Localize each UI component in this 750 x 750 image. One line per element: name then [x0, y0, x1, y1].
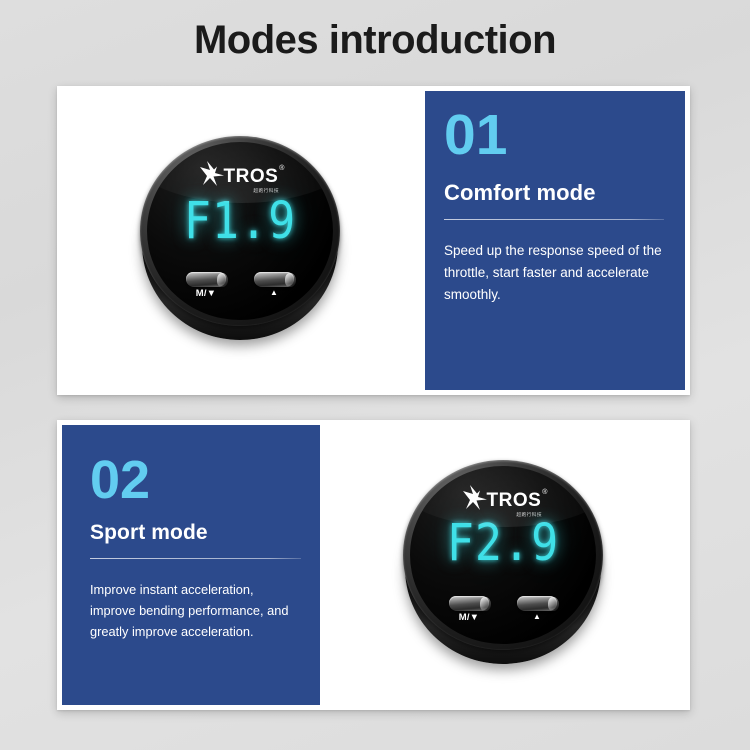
star-icon: [460, 484, 490, 512]
divider: [444, 219, 664, 220]
mode-description-sport: Improve instant acceleration, improve be…: [90, 579, 301, 643]
button-cap: [449, 596, 489, 611]
mode-down-button[interactable]: M/▼: [449, 596, 489, 623]
device-display-value: F2.9: [410, 513, 596, 572]
mode-down-button[interactable]: M/▼: [186, 272, 226, 299]
mode-down-button-label: M/▼: [196, 289, 217, 299]
device-face: TROS ® 超跑行科技 F1.9 M/▼ ▲: [147, 142, 333, 320]
mode-name-comfort: Comfort mode: [444, 180, 664, 206]
throttle-controller-device-sport: TROS ® 超跑行科技 F2.9 M/▼ ▲: [403, 460, 603, 660]
mode-number-comfort: 01: [444, 108, 664, 164]
mode-down-button-label: M/▼: [459, 613, 480, 623]
mode-info-panel-comfort: 01 Comfort mode Speed up the response sp…: [420, 86, 690, 395]
throttle-controller-device-comfort: TROS ® 超跑行科技 F1.9 M/▼ ▲: [140, 136, 340, 336]
brand-name: TROS: [487, 491, 542, 510]
device-face: TROS ® 超跑行科技 F2.9 M/▼ ▲: [410, 466, 596, 644]
up-button-label: ▲: [533, 613, 541, 621]
divider: [90, 558, 301, 559]
mode-card-comfort: TROS ® 超跑行科技 F1.9 M/▼ ▲: [57, 86, 690, 395]
device-image-panel-comfort: TROS ® 超跑行科技 F1.9 M/▼ ▲: [57, 86, 420, 395]
device-image-panel-sport: TROS ® 超跑行科技 F2.9 M/▼ ▲: [325, 420, 690, 710]
brand-logo: TROS ® 超跑行科技: [147, 158, 333, 192]
device-display-value: F1.9: [147, 191, 333, 250]
mode-description-comfort: Speed up the response speed of the throt…: [444, 240, 664, 306]
button-cap: [186, 272, 226, 287]
brand-name: TROS: [224, 167, 279, 186]
up-button[interactable]: ▲: [517, 596, 557, 623]
mode-name-sport: Sport mode: [90, 521, 301, 545]
button-cap: [254, 272, 294, 287]
mode-card-sport: 02 Sport mode Improve instant accelerati…: [57, 420, 690, 710]
device-button-row: M/▼ ▲: [147, 272, 333, 299]
page-title: Modes introduction: [0, 18, 750, 63]
up-button[interactable]: ▲: [254, 272, 294, 299]
registered-mark: ®: [279, 165, 284, 172]
star-icon: [197, 160, 227, 188]
mode-info-panel-sport: 02 Sport mode Improve instant accelerati…: [57, 420, 325, 710]
mode-number-sport: 02: [90, 454, 301, 507]
device-button-row: M/▼ ▲: [410, 596, 596, 623]
brand-logo: TROS ® 超跑行科技: [410, 482, 596, 516]
button-cap: [517, 596, 557, 611]
up-button-label: ▲: [270, 289, 278, 297]
registered-mark: ®: [542, 489, 547, 496]
